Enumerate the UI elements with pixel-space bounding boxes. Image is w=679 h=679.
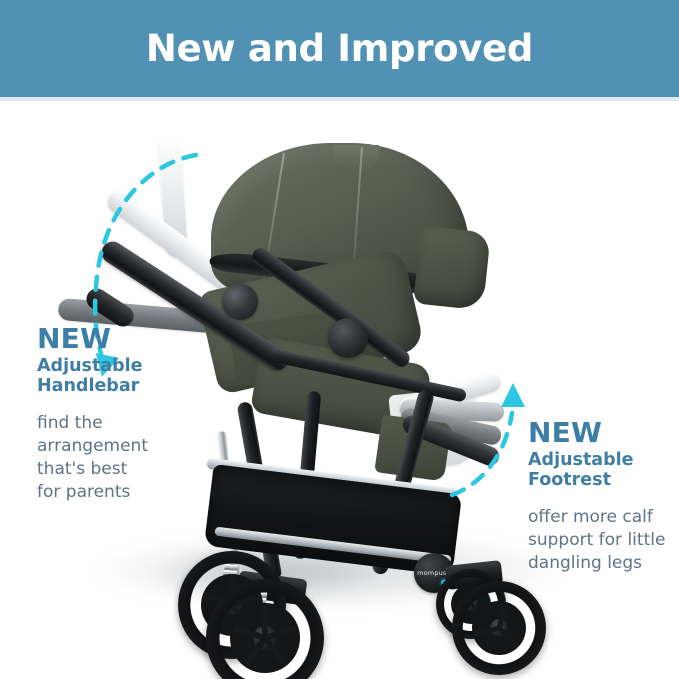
handlebar-hinge	[222, 284, 258, 320]
callout-feature-title: Adjustable Handlebar	[37, 356, 212, 397]
callout-body-line-2: arrangement	[37, 435, 212, 458]
callout-body-line-3: dangling legs	[528, 552, 679, 575]
callout-description: offer more calf support for little dangl…	[528, 506, 679, 575]
callout-body-line-2: support for little	[528, 529, 679, 552]
front-wheel-near	[452, 581, 546, 675]
callout-feature-line-1: Adjustable	[528, 450, 679, 471]
recline-adjustment-hub	[328, 318, 368, 358]
callout-body-line-1: find the	[37, 412, 212, 435]
callout-new-label: NEW	[528, 419, 679, 448]
page-title: New and Improved	[146, 30, 533, 67]
callout-handlebar: NEW Adjustable Handlebar find the arrang…	[37, 325, 212, 504]
callout-footrest: NEW Adjustable Footrest offer more calf …	[528, 419, 679, 575]
callout-feature-line-2: Footrest	[528, 470, 679, 491]
callout-body-line-4: for parents	[37, 481, 212, 504]
callout-new-label: NEW	[37, 325, 212, 354]
callout-feature-line-1: Adjustable	[37, 356, 212, 377]
callout-feature-line-2: Handlebar	[37, 376, 212, 397]
callout-description: find the arrangement that's best for par…	[37, 412, 212, 504]
header-banner: New and Improved	[0, 0, 679, 97]
canopy-notch	[333, 145, 379, 173]
callout-feature-title: Adjustable Footrest	[528, 450, 679, 491]
callout-body-line-1: offer more calf	[528, 506, 679, 529]
product-stage: mompush	[0, 101, 679, 679]
canopy-visor	[413, 226, 491, 311]
product-infographic: New and Improved	[0, 0, 679, 679]
callout-body-line-3: that's best	[37, 458, 212, 481]
